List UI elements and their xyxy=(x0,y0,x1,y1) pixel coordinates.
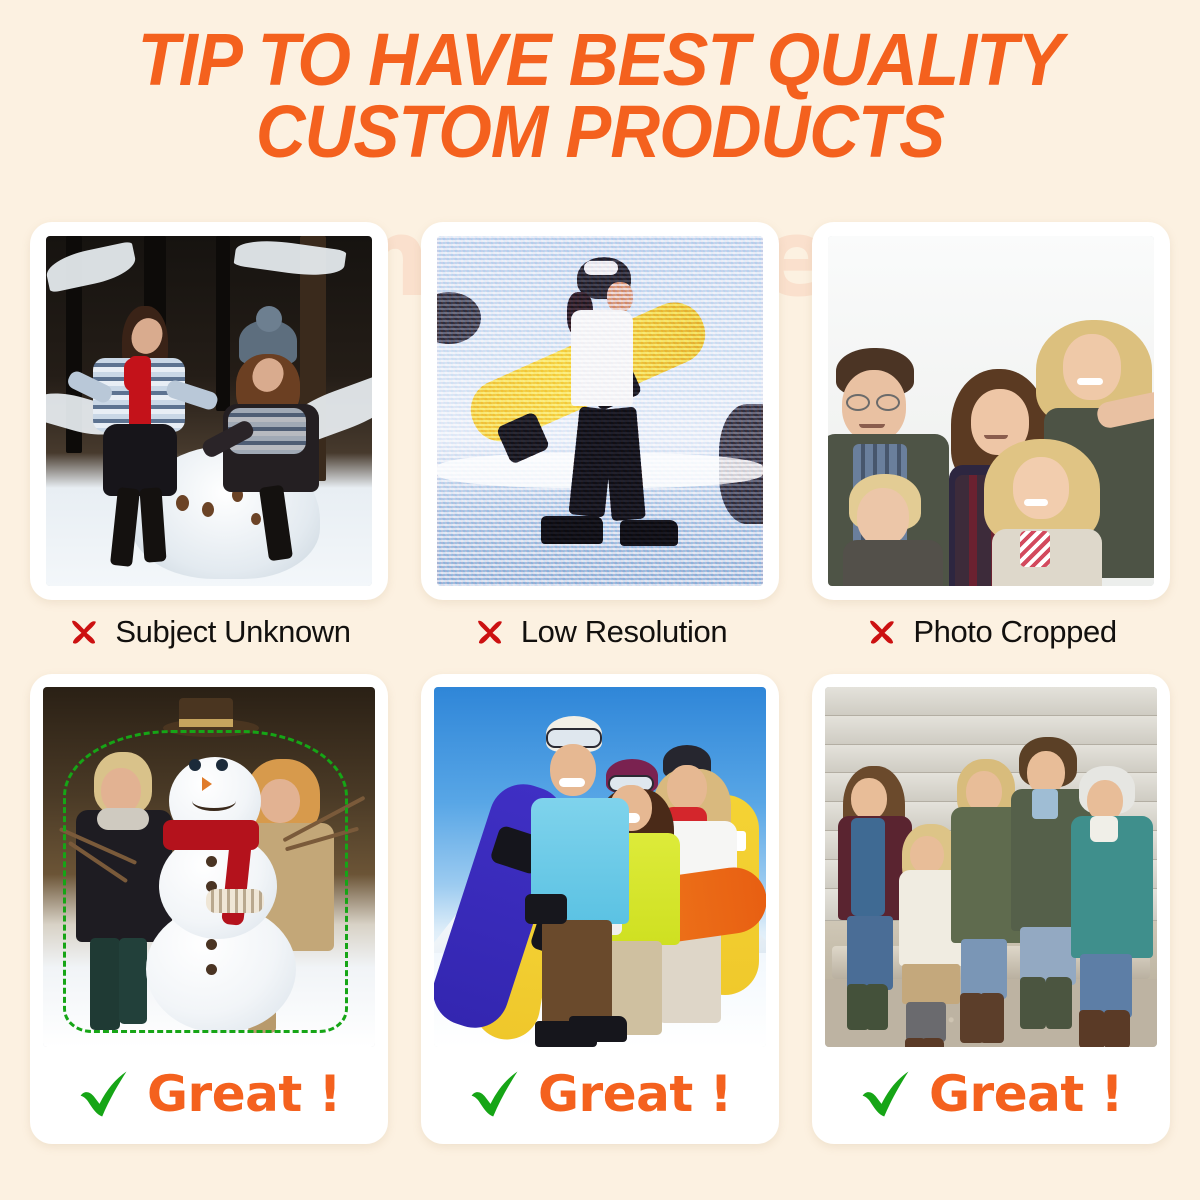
x-icon xyxy=(865,615,899,649)
good-label-great-snowman: Great ! xyxy=(43,1057,375,1131)
infographic-page: macorner TIP TO HAVE BEST QUALITY CUSTOM… xyxy=(0,0,1200,1200)
photo-great-snowman xyxy=(43,687,375,1047)
photo-great-family xyxy=(825,687,1157,1047)
photo-great-snowboarders xyxy=(434,687,766,1047)
check-icon xyxy=(468,1067,522,1121)
good-label-text: Great ! xyxy=(147,1065,341,1123)
good-label-great-snowboarders: Great ! xyxy=(434,1057,766,1131)
good-label-text: Great ! xyxy=(538,1065,732,1123)
bad-label-low-resolution: Low Resolution xyxy=(473,614,727,650)
photo-card: Great ! xyxy=(812,674,1170,1144)
bad-label-text: Photo Cropped xyxy=(913,614,1116,650)
x-icon xyxy=(67,615,101,649)
good-examples-row: Great ! xyxy=(0,674,1200,1144)
photo-card xyxy=(812,222,1170,600)
bad-label-photo-cropped: Photo Cropped xyxy=(865,614,1116,650)
page-title: TIP TO HAVE BEST QUALITY CUSTOM PRODUCTS xyxy=(42,24,1158,168)
example-low-resolution: Low Resolution xyxy=(421,222,779,662)
bad-label-text: Subject Unknown xyxy=(115,614,350,650)
x-icon xyxy=(473,615,507,649)
good-label-great-family: Great ! xyxy=(825,1057,1157,1131)
examples-grid: Subject Unknown xyxy=(0,222,1200,1144)
bad-label-text: Low Resolution xyxy=(521,614,727,650)
example-photo-cropped: Photo Cropped xyxy=(812,222,1170,662)
page-title-line-1: TIP TO HAVE BEST QUALITY xyxy=(42,24,1158,96)
photo-card xyxy=(30,222,388,600)
example-subject-unknown: Subject Unknown xyxy=(30,222,388,662)
bad-label-subject-unknown: Subject Unknown xyxy=(67,614,350,650)
example-great-snowman: Great ! xyxy=(30,674,388,1144)
photo-card: Great ! xyxy=(30,674,388,1144)
photo-low-resolution xyxy=(437,236,763,586)
photo-subject-unknown xyxy=(46,236,372,586)
example-great-family: Great ! xyxy=(812,674,1170,1144)
photo-card: Great ! xyxy=(421,674,779,1144)
photo-cropped xyxy=(828,236,1154,586)
check-icon xyxy=(77,1067,131,1121)
check-icon xyxy=(859,1067,913,1121)
example-great-snowboarders: Great ! xyxy=(421,674,779,1144)
photo-card xyxy=(421,222,779,600)
bad-examples-row: Subject Unknown xyxy=(0,222,1200,662)
page-title-line-2: CUSTOM PRODUCTS xyxy=(42,96,1158,168)
good-label-text: Great ! xyxy=(929,1065,1123,1123)
